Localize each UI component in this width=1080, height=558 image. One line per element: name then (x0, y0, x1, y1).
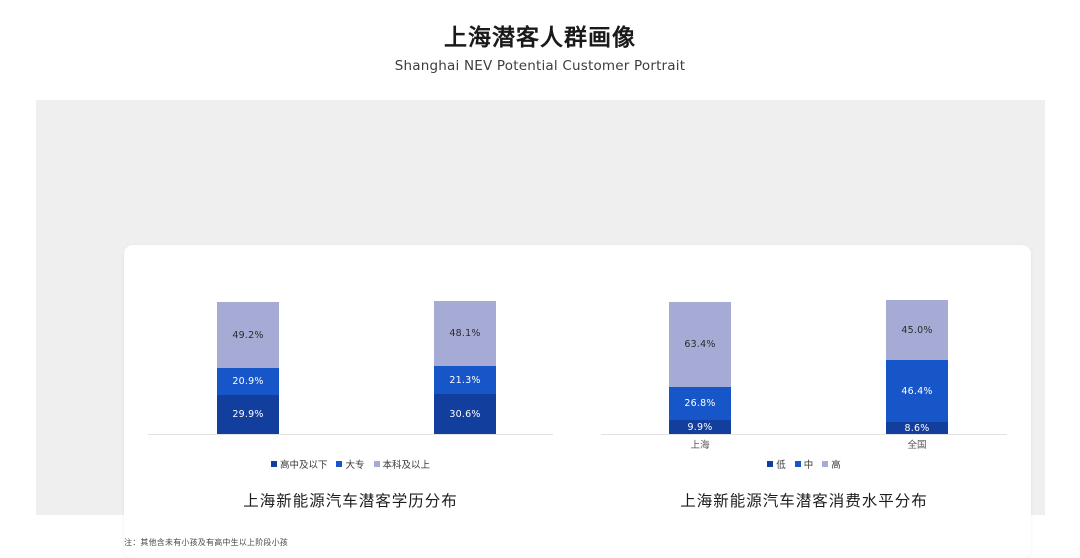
bar-segment-low: 8.6% (886, 422, 948, 434)
chart-education-distribution: 49.2% 20.9% 29.9% 48.1% 21.3% 30.6% 高中及以… (124, 245, 577, 558)
stacked-bar[interactable]: 45.0% 46.4% 8.6% (886, 300, 948, 434)
legend-label: 低 (776, 457, 786, 471)
legend-swatch-icon (271, 461, 277, 467)
legend-swatch-icon (795, 461, 801, 467)
legend-item-low[interactable]: 高中及以下 (271, 457, 328, 471)
bar-segment-high: 48.1% (434, 301, 496, 366)
bar-segment-mid: 46.4% (886, 360, 948, 422)
legend-item-high[interactable]: 高 (822, 457, 841, 471)
legend-consumption: 低 中 高 (577, 457, 1031, 471)
legend-item-high[interactable]: 本科及以上 (374, 457, 431, 471)
bar-segment-mid: 21.3% (434, 366, 496, 394)
plot-area-education: 49.2% 20.9% 29.9% 48.1% 21.3% 30.6% (124, 245, 577, 435)
legend-label: 中 (804, 457, 814, 471)
bar-segment-mid: 26.8% (669, 387, 731, 420)
footnote: 注：其他含未有小孩及有高中生以上阶段小孩 (124, 537, 1031, 548)
slide-background-panel: 49.2% 20.9% 29.9% 48.1% 21.3% 30.6% 高中及以… (36, 100, 1045, 515)
legend-label: 大专 (345, 457, 364, 471)
stacked-bar[interactable]: 63.4% 26.8% 9.9% (669, 302, 731, 434)
bar-segment-high: 63.4% (669, 302, 731, 387)
chart-caption-consumption: 上海新能源汽车潜客消费水平分布 (577, 489, 1031, 511)
page-title: 上海潜客人群画像 (0, 22, 1080, 52)
legend-label: 本科及以上 (383, 457, 431, 471)
bar-segment-low: 29.9% (217, 395, 279, 434)
x-axis-line (601, 434, 1007, 435)
x-axis-line (148, 434, 553, 435)
chart-caption-education: 上海新能源汽车潜客学历分布 (124, 489, 577, 511)
stacked-bar[interactable]: 48.1% 21.3% 30.6% (434, 301, 496, 434)
charts-row: 49.2% 20.9% 29.9% 48.1% 21.3% 30.6% 高中及以… (124, 245, 1031, 558)
stacked-bar[interactable]: 49.2% 20.9% 29.9% (217, 302, 279, 434)
category-label-shanghai: 上海 (655, 437, 745, 451)
chart-card: 49.2% 20.9% 29.9% 48.1% 21.3% 30.6% 高中及以… (124, 245, 1031, 558)
chart-consumption-distribution: 63.4% 26.8% 9.9% 45.0% 46.4% 8.6% 上海 全国 (577, 245, 1031, 558)
bar-segment-high: 45.0% (886, 300, 948, 360)
legend-swatch-icon (767, 461, 773, 467)
bar-segment-low: 9.9% (669, 420, 731, 434)
legend-swatch-icon (374, 461, 380, 467)
bar-segment-low: 30.6% (434, 394, 496, 434)
page-header: 上海潜客人群画像 Shanghai NEV Potential Customer… (0, 22, 1080, 76)
category-labels: 上海 全国 (577, 437, 1031, 453)
legend-item-low[interactable]: 低 (767, 457, 786, 471)
legend-swatch-icon (336, 461, 342, 467)
bar-segment-mid: 20.9% (217, 368, 279, 395)
category-label-national: 全国 (872, 437, 962, 451)
legend-label: 高 (831, 457, 841, 471)
legend-label: 高中及以下 (280, 457, 328, 471)
legend-item-mid[interactable]: 大专 (336, 457, 364, 471)
page-subtitle: Shanghai NEV Potential Customer Portrait (0, 56, 1080, 76)
plot-area-consumption: 63.4% 26.8% 9.9% 45.0% 46.4% 8.6% (577, 245, 1031, 435)
legend-swatch-icon (822, 461, 828, 467)
legend-item-mid[interactable]: 中 (795, 457, 814, 471)
legend-education: 高中及以下 大专 本科及以上 (124, 457, 577, 471)
bar-segment-high: 49.2% (217, 302, 279, 368)
